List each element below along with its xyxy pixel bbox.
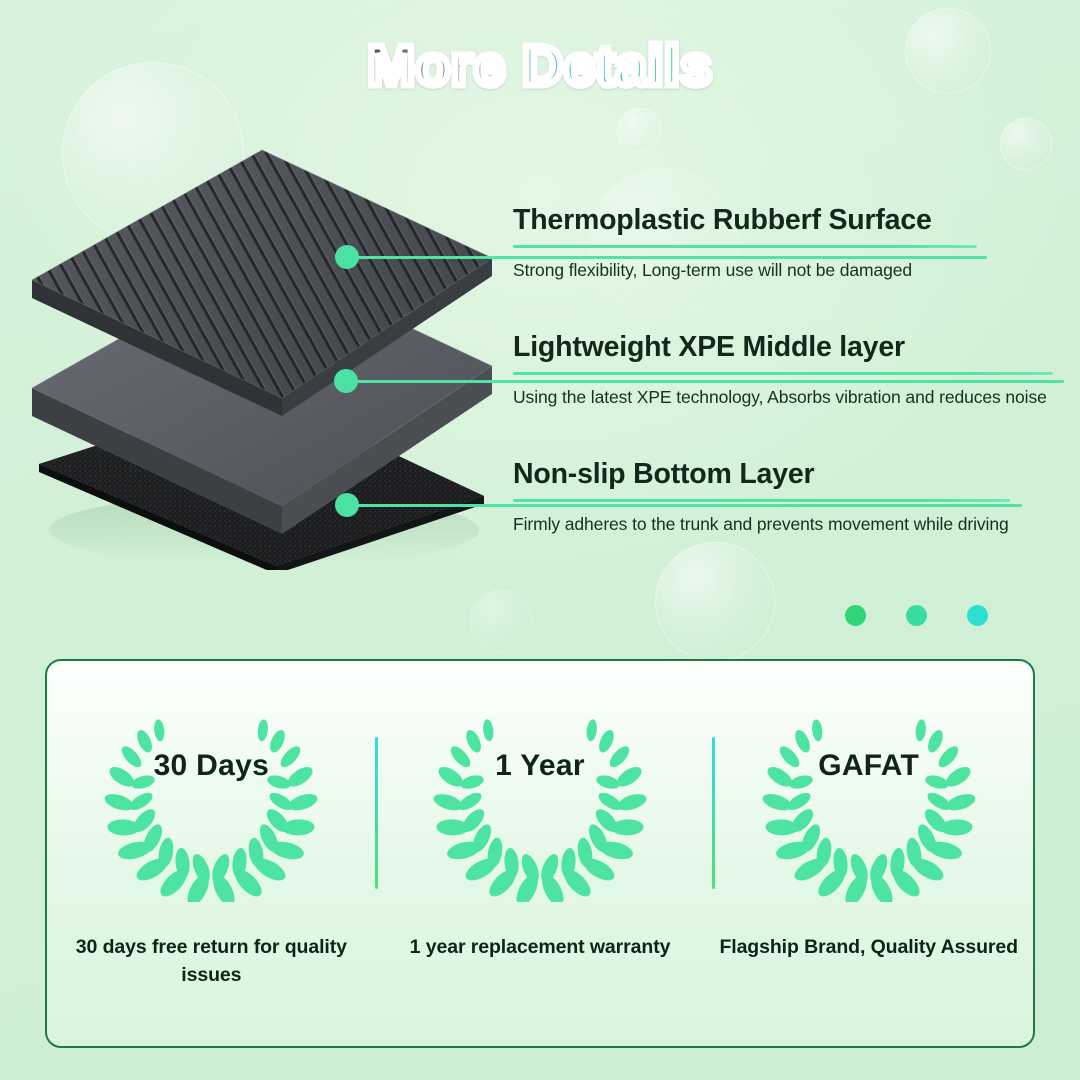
feature-subtitle: Strong flexibility, Long-term use will n… — [513, 260, 977, 281]
laurel-wreath-icon — [749, 687, 989, 902]
badge-label: 1 Year — [376, 749, 705, 783]
badge-label: 30 Days — [47, 749, 376, 783]
feature-item-surface: Thermoplastic Rubberf Surface Strong fle… — [513, 204, 977, 281]
pager-dot-1[interactable] — [845, 605, 866, 626]
badge-caption: Flagship Brand, Quality Assured — [719, 933, 1017, 961]
feature-subtitle: Firmly adheres to the trunk and prevents… — [513, 514, 1010, 535]
feature-underline — [513, 245, 977, 248]
bubble-icon — [1000, 118, 1052, 170]
connector-dot-icon — [335, 493, 359, 517]
pager-dot-2[interactable] — [906, 605, 927, 626]
badge-caption: 30 days free return for quality issues — [61, 933, 361, 990]
feature-title: Lightweight XPE Middle layer — [513, 331, 1053, 364]
feature-title: Thermoplastic Rubberf Surface — [513, 204, 977, 237]
bubble-icon — [617, 108, 661, 152]
guarantee-badge-brand: GAFAT Flagship Brand, Quality Assured — [704, 661, 1033, 961]
infographic-page: More Details — [0, 0, 1080, 1080]
connector-dot-icon — [335, 245, 359, 269]
feature-item-middle-layer: Lightweight XPE Middle layer Using the l… — [513, 331, 1053, 408]
feature-underline — [513, 499, 1010, 502]
pager-dot-3[interactable] — [967, 605, 988, 626]
feature-title: Non-slip Bottom Layer — [513, 458, 1010, 491]
feature-subtitle: Using the latest XPE technology, Absorbs… — [513, 387, 1053, 408]
pager-dots[interactable] — [845, 605, 988, 626]
connector-dot-icon — [334, 369, 358, 393]
laurel-wreath-icon — [91, 687, 331, 902]
bubble-icon — [470, 590, 532, 652]
bubble-icon — [655, 542, 775, 662]
page-title-text: More Details — [368, 38, 713, 95]
feature-underline — [513, 372, 1053, 375]
guarantee-badge-warranty: 1 Year 1 year replacement warranty — [376, 661, 705, 961]
badge-label: GAFAT — [704, 749, 1033, 783]
feature-item-bottom-layer: Non-slip Bottom Layer Firmly adheres to … — [513, 458, 1010, 535]
guarantee-card: 30 Days 30 days free return for quality … — [45, 659, 1035, 1048]
badge-caption: 1 year replacement warranty — [410, 933, 671, 961]
page-title: More Details — [0, 38, 1080, 95]
guarantee-badge-return: 30 Days 30 days free return for quality … — [47, 661, 376, 990]
laurel-wreath-icon — [420, 687, 660, 902]
